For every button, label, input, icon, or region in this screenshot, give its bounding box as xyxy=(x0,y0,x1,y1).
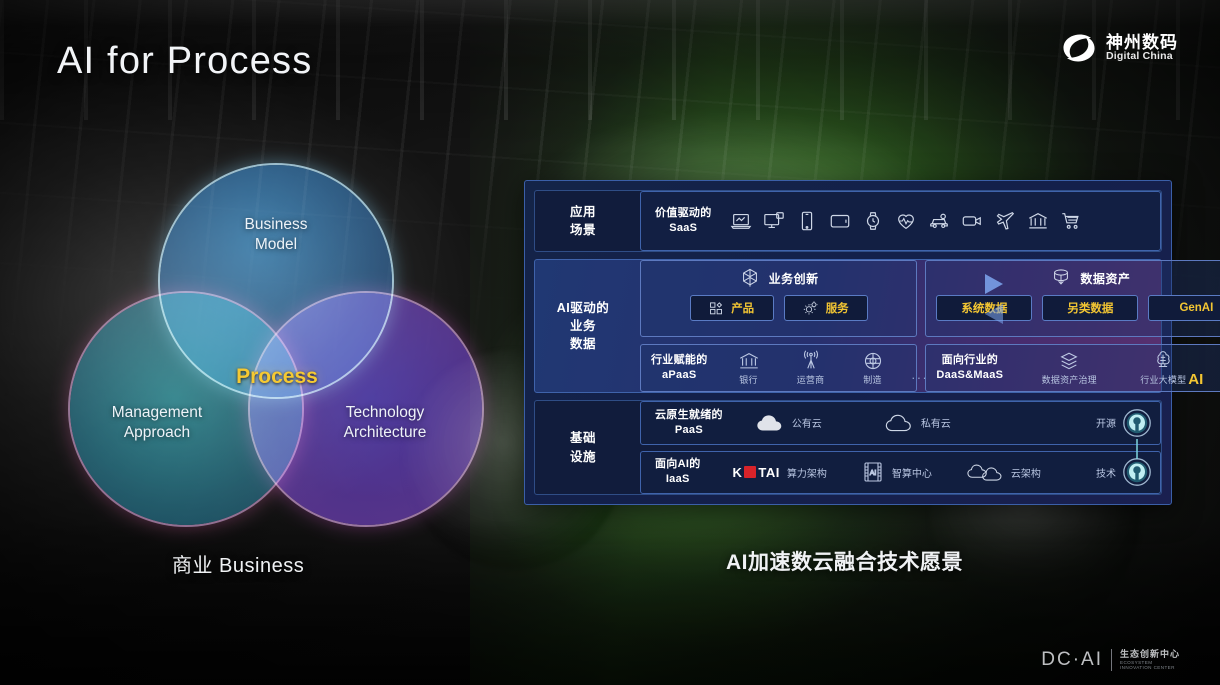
infra-items-iaas: K TAI 算力架构 AI 智算中心 xyxy=(733,460,1087,484)
infra-caption: 云架构 xyxy=(1011,465,1041,480)
svg-text:AI: AI xyxy=(870,470,877,477)
venn-center-label: Process xyxy=(202,365,352,389)
chip-alternative-data[interactable]: 另类数据 xyxy=(1042,295,1138,321)
openatom-circle-icon xyxy=(1122,457,1152,487)
heartbeat-icon xyxy=(895,210,917,232)
video-camera-icon xyxy=(961,210,983,232)
infra-caption: 公有云 xyxy=(792,415,822,430)
chip-product[interactable]: 产品 xyxy=(690,295,774,321)
smartwatch-icon xyxy=(862,210,884,232)
infra-tail-open-source: 开源 xyxy=(1096,408,1152,438)
group-business-innovation: 业务创新 产品 服务 xyxy=(640,260,917,392)
venn-label-management-approach: Management Approach xyxy=(82,403,232,443)
tile-manufacturing: 制造 xyxy=(850,350,896,386)
subpanel-title: 数据资产 xyxy=(1080,270,1130,287)
kutai-letter-k: K xyxy=(733,465,743,480)
car-icon xyxy=(928,210,950,232)
openatom-circle-icon xyxy=(1122,408,1152,438)
connector-line xyxy=(1136,439,1138,459)
smartphone-icon xyxy=(796,210,818,232)
application-icon-strip xyxy=(730,210,1082,232)
row-label-line2: 业务 xyxy=(557,317,610,335)
infra-item-public-cloud: 公有云 xyxy=(755,412,822,434)
desktop-monitor-icon xyxy=(763,210,785,232)
infra-caption: 算力架构 xyxy=(787,465,827,480)
tile-caption: 制造 xyxy=(863,373,881,386)
cube-cluster-icon xyxy=(739,267,761,289)
multi-cloud-icon xyxy=(966,461,1004,483)
brand-name-en: Digital China xyxy=(1106,51,1178,62)
data-layers-icon xyxy=(1058,350,1080,372)
cloud-filled-icon xyxy=(755,412,785,434)
grid-blocks-icon xyxy=(709,301,724,316)
gears-icon xyxy=(803,300,819,316)
panel-title-line1: 价值驱动的 xyxy=(655,206,712,221)
brain-chip-icon xyxy=(1152,350,1174,372)
antenna-tower-icon xyxy=(800,350,822,372)
row-label-line3: 数据 xyxy=(557,335,610,353)
panel-title-line1: 行业赋能的 xyxy=(651,353,708,368)
tile-list-daas-maas: 数据资产治理 行业大模型 AI xyxy=(1037,350,1199,386)
venn-diagram: Business Model Management Approach Techn… xyxy=(62,165,462,525)
ai-badge: AI xyxy=(1188,371,1203,388)
arch-row-application-scenarios: 应用 场景 价值驱动的 SaaS xyxy=(534,190,1162,252)
chip-genai[interactable]: GenAI xyxy=(1148,295,1220,321)
panel-title-line2: DaaS&MaaS xyxy=(936,368,1003,383)
subpanel-industry-apaas: 行业赋能的 aPaaS 银行 运营商 xyxy=(640,344,917,392)
subpanel-industry-daas-maas: 面向行业的 DaaS&MaaS 数据资产治理 行业大模型 AI xyxy=(925,344,1220,392)
infra-tail-technology: 技术 xyxy=(1096,457,1152,487)
subpanel-header: 业务创新 xyxy=(651,267,906,289)
venn-label-line2: Model xyxy=(216,235,336,255)
tile-operator: 运营商 xyxy=(788,350,834,386)
infra-caption: 智算中心 xyxy=(892,465,932,480)
shopping-cart-icon xyxy=(1060,210,1082,232)
footer-logo: DC·AI 生态创新中心 ECOSYSTEM INNOVATION CENTER xyxy=(1041,649,1180,671)
ai-datacenter-icon: AI xyxy=(861,460,885,484)
tile-banking: 银行 xyxy=(726,350,772,386)
infra-row-ai-oriented-iaas: 面向AI的 IaaS K TAI 算力架构 xyxy=(640,451,1161,495)
bank-icon xyxy=(1027,210,1049,232)
chip-label: GenAI xyxy=(1179,302,1213,314)
chip-label: 另类数据 xyxy=(1067,300,1113,316)
page-title: AI for Process xyxy=(57,40,312,83)
tile-data-governance: 数据资产治理 xyxy=(1037,350,1101,386)
tile-industry-llm: 行业大模型 AI xyxy=(1127,350,1199,386)
database-icon xyxy=(1050,267,1072,289)
cloud-outline-icon xyxy=(884,412,914,434)
row-label-application-scenarios: 应用 场景 xyxy=(535,191,631,251)
subpanel-data-assets: 数据资产 系统数据 另类数据 GenAI xyxy=(925,260,1220,337)
brand-logo: 神州数码 Digital China xyxy=(1061,33,1178,63)
panel-title-industry-daas-maas: 面向行业的 DaaS&MaaS xyxy=(936,353,1003,383)
row-label-line1: AI驱动的 xyxy=(557,299,610,317)
chip-list-business-innovation: 产品 服务 xyxy=(651,295,906,321)
venn-label-business-model: Business Model xyxy=(216,215,336,255)
panel-title-line2: IaaS xyxy=(655,472,701,487)
infra-items-paas: 公有云 私有云 xyxy=(755,412,1086,434)
venn-label-line1: Technology xyxy=(310,403,460,423)
infra-item-compute-architecture: K TAI 算力架构 xyxy=(733,465,827,480)
venn-label-line1: Business xyxy=(216,215,336,235)
row-label-ai-driven-business-data: AI驱动的 业务 数据 xyxy=(535,260,631,392)
infra-item-cloud-architecture: 云架构 xyxy=(966,461,1041,483)
panel-title-industry-apaas: 行业赋能的 aPaaS xyxy=(651,353,708,383)
panel-title-line2: PaaS xyxy=(655,423,723,438)
panel-title-line2: aPaaS xyxy=(651,368,708,383)
infrastructure-stack: 云原生就绪的 PaaS 公有云 私有云 xyxy=(640,401,1161,494)
venn-label-line2: Architecture xyxy=(310,423,460,443)
subpanel-business-innovation: 业务创新 产品 服务 xyxy=(640,260,917,337)
footer-logo-divider xyxy=(1111,649,1112,671)
tile-caption: 运营商 xyxy=(797,373,825,386)
venn-caption: 商业 Business xyxy=(172,549,304,578)
architecture-caption: AI加速数云融合技术愿景 xyxy=(726,546,963,576)
swirl-logo-icon xyxy=(1061,33,1097,63)
arch-row-infrastructure: 基础 设施 云原生就绪的 PaaS xyxy=(534,400,1162,495)
venn-label-technology-architecture: Technology Architecture xyxy=(310,403,460,443)
panel-title-line1: 面向行业的 xyxy=(936,353,1003,368)
infra-tail-caption: 技术 xyxy=(1096,465,1116,480)
chip-label: 产品 xyxy=(731,300,754,316)
chip-service[interactable]: 服务 xyxy=(784,295,868,321)
bank-columns-icon xyxy=(738,350,760,372)
panel-title-line1: 面向AI的 xyxy=(655,457,701,472)
flow-arrows-icon xyxy=(983,270,1005,344)
panel-title-line1: 云原生就绪的 xyxy=(655,408,723,423)
tile-caption: 数据资产治理 xyxy=(1042,373,1097,386)
tile-caption: 银行 xyxy=(739,373,757,386)
brand-name-cn: 神州数码 xyxy=(1106,34,1178,52)
row-label-line2: 设施 xyxy=(570,448,596,466)
kutai-letters-tai: TAI xyxy=(758,465,779,480)
row-label-line1: 基础 xyxy=(570,429,596,447)
subpanel-header: 数据资产 xyxy=(936,267,1220,289)
architecture-panel: 应用 场景 价值驱动的 SaaS xyxy=(524,180,1172,505)
infra-item-private-cloud: 私有云 xyxy=(884,412,951,434)
tablet-icon xyxy=(829,210,851,232)
infra-caption: 私有云 xyxy=(921,415,951,430)
tile-list-industry-apaas: 银行 运营商 制造 ... xyxy=(726,350,929,386)
presentation-slide: AI for Process 神州数码 Digital China Busine… xyxy=(0,0,1220,685)
panel-title-value-driven-saas: 价值驱动的 SaaS xyxy=(655,206,712,236)
panel-title-line2: SaaS xyxy=(655,221,712,236)
chip-label: 服务 xyxy=(826,300,849,316)
laptop-icon xyxy=(730,210,752,232)
chip-list-data-assets: 系统数据 另类数据 GenAI xyxy=(936,295,1220,321)
infra-item-ai-computing-center: AI 智算中心 xyxy=(861,460,932,484)
panel-value-driven-saas: 价值驱动的 SaaS xyxy=(640,191,1161,251)
panel-title-ai-oriented-iaas: 面向AI的 IaaS xyxy=(655,457,701,487)
row-label-infrastructure: 基础 设施 xyxy=(535,401,631,494)
tile-caption: 行业大模型 xyxy=(1140,373,1186,386)
venn-label-line2: Approach xyxy=(82,423,232,443)
row-label-line2: 场景 xyxy=(570,221,596,239)
venn-label-line1: Management xyxy=(82,403,232,423)
subpanel-title: 业务创新 xyxy=(769,270,819,287)
panel-title-cloud-native-paas: 云原生就绪的 PaaS xyxy=(655,408,723,438)
row-label-line1: 应用 xyxy=(570,203,596,221)
footer-logo-dc: DC·AI xyxy=(1041,649,1103,671)
kutai-logo-icon: K TAI xyxy=(733,465,780,480)
airplane-icon xyxy=(994,210,1016,232)
group-data-assets: 数据资产 系统数据 另类数据 GenAI xyxy=(925,260,1220,392)
kutai-red-square xyxy=(744,466,756,478)
infra-tail-caption: 开源 xyxy=(1096,415,1116,430)
footer-logo-cn: 生态创新中心 xyxy=(1120,650,1180,660)
manufacturing-gear-icon xyxy=(862,350,884,372)
arch-row-ai-driven-business-data: AI驱动的 业务 数据 业务创新 xyxy=(534,259,1162,393)
infra-row-cloud-native-paas: 云原生就绪的 PaaS 公有云 私有云 xyxy=(640,401,1161,445)
footer-logo-en-line2: INNOVATION CENTER xyxy=(1120,665,1180,670)
